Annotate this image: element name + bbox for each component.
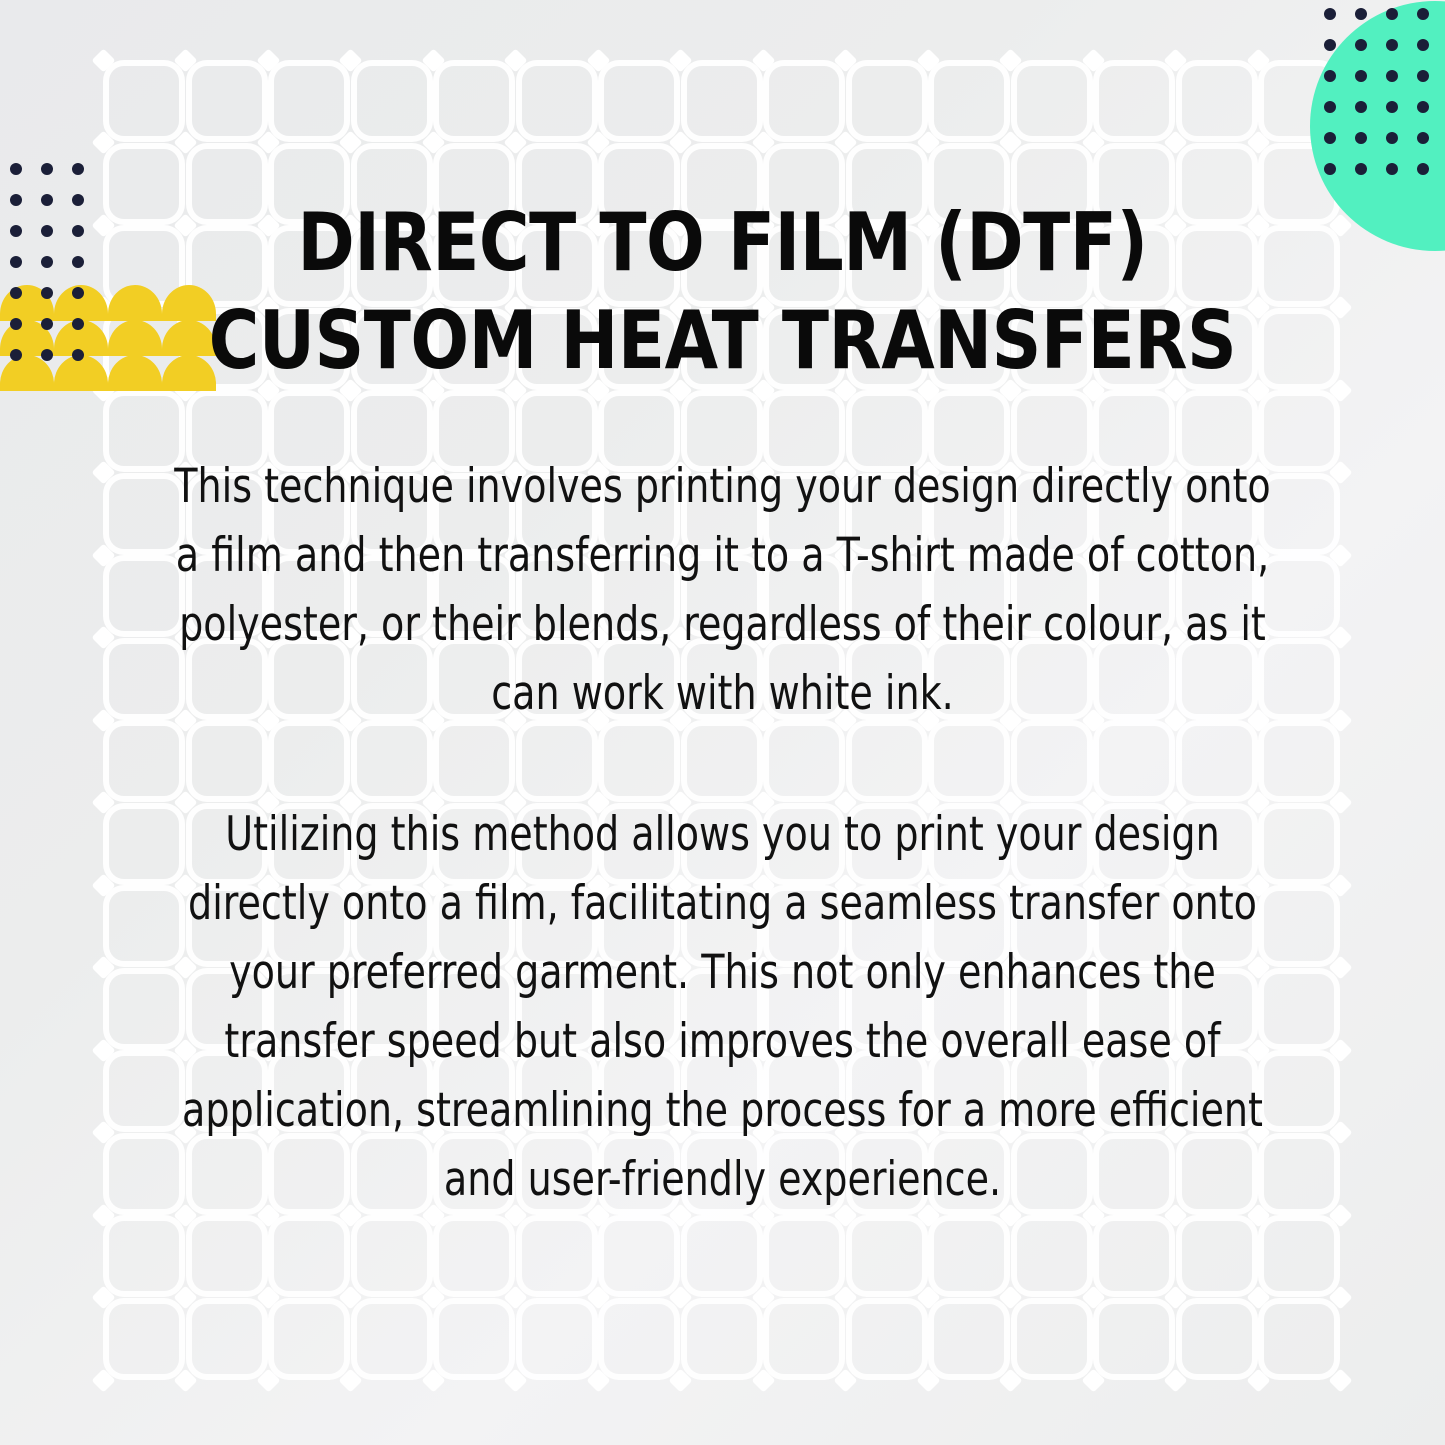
page-title: DIRECT TO FILM (DTF) CUSTOM HEAT TRANSFE… <box>125 194 1320 390</box>
title-line-2: CUSTOM HEAT TRANSFERS <box>125 292 1320 390</box>
title-line-1: DIRECT TO FILM (DTF) <box>125 194 1320 292</box>
poster-canvas: DIRECT TO FILM (DTF) CUSTOM HEAT TRANSFE… <box>0 0 1445 1445</box>
paragraph-1: This technique involves printing your de… <box>159 452 1287 728</box>
paragraph-2: Utilizing this method allows you to prin… <box>159 800 1287 1214</box>
content-area: DIRECT TO FILM (DTF) CUSTOM HEAT TRANSFE… <box>0 0 1445 1445</box>
body-copy: This technique involves printing your de… <box>96 452 1349 1214</box>
